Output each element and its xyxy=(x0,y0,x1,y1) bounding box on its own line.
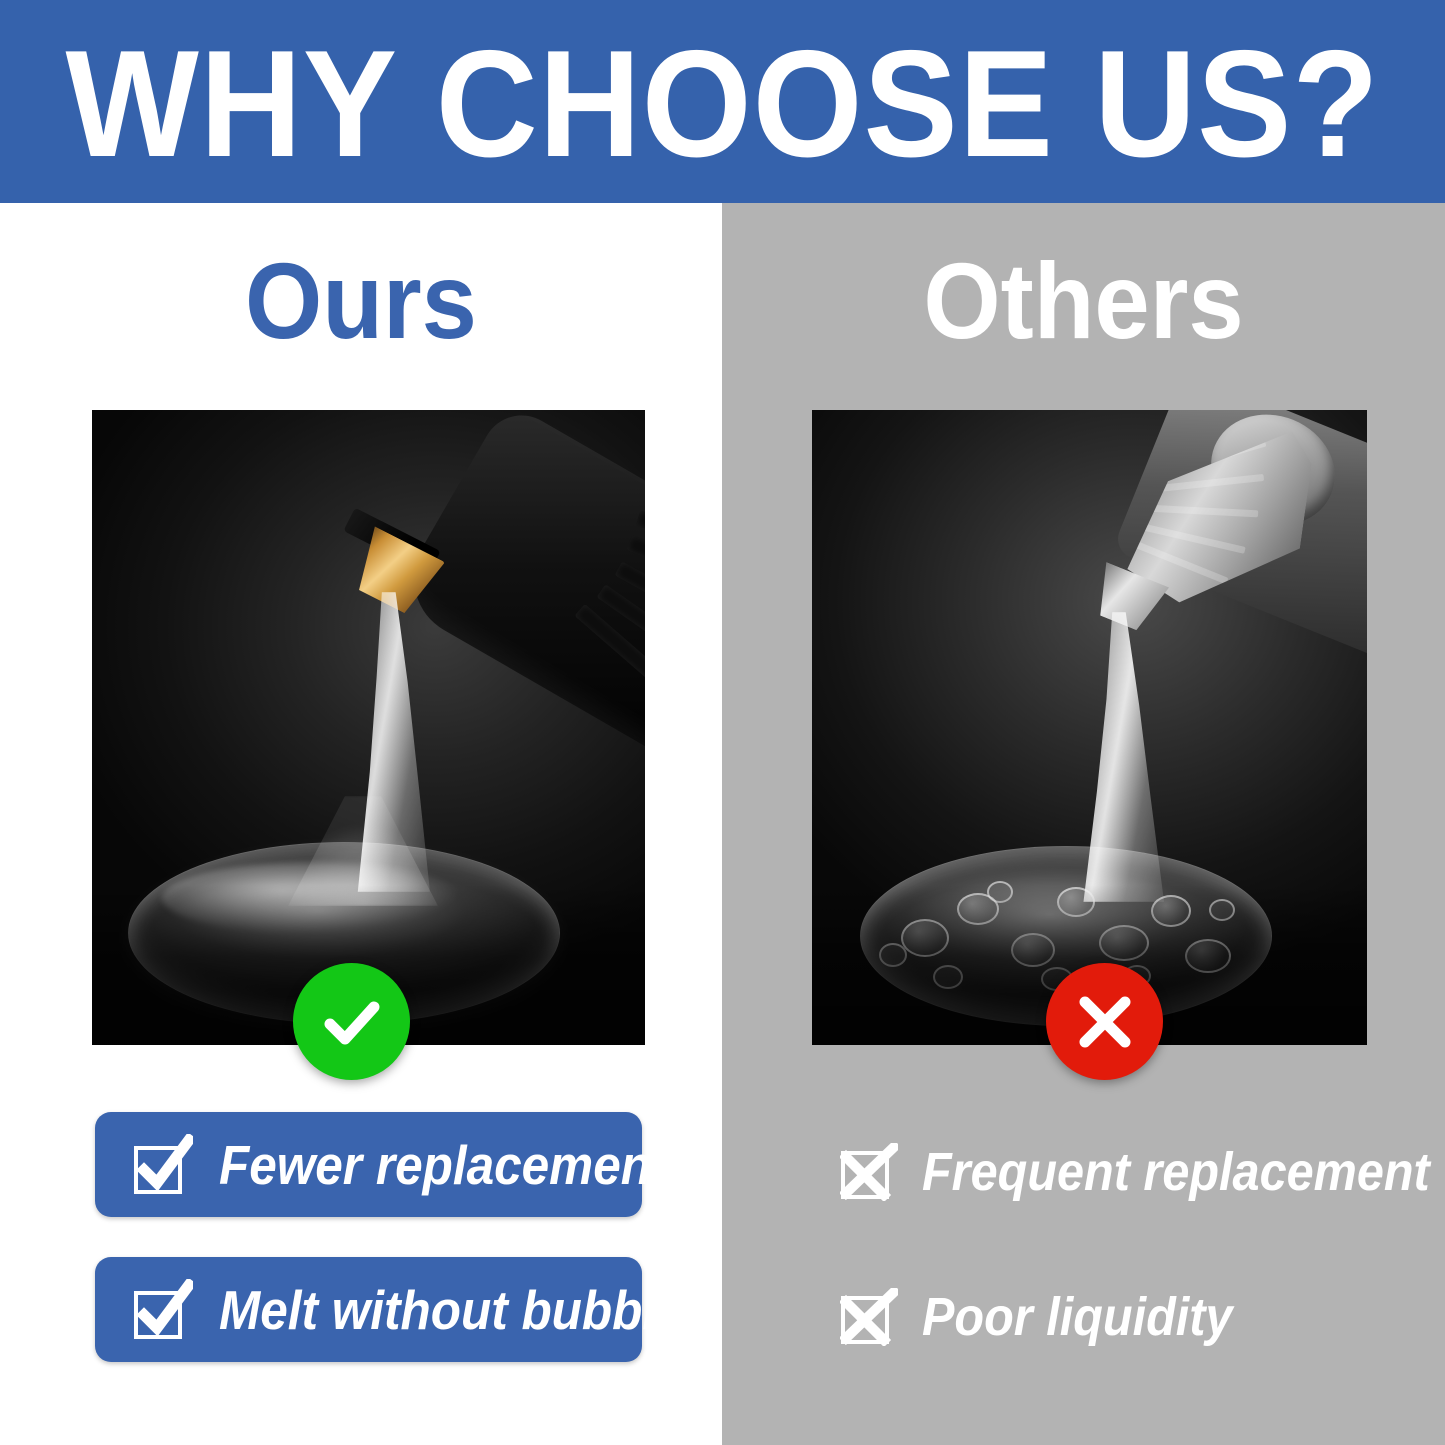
panel-others: Others xyxy=(722,203,1445,1445)
checkbox-crossed-icon xyxy=(840,1143,898,1201)
feature-row-others-2[interactable]: Poor liquidity xyxy=(838,1267,1398,1367)
feature-label-others-1: Frequent replacement xyxy=(922,1143,1430,1201)
product-photo-others xyxy=(812,410,1367,1045)
feature-pill-ours-1[interactable]: Fewer replacements xyxy=(95,1112,642,1217)
feature-label-ours-2: Melt without bubbles xyxy=(219,1281,711,1339)
heading-ours: Ours xyxy=(29,245,693,357)
feature-pill-ours-2[interactable]: Melt without bubbles xyxy=(95,1257,642,1362)
checkbox-crossed-icon xyxy=(840,1288,898,1346)
feature-label-ours-1: Fewer replacements xyxy=(219,1136,695,1194)
product-photo-ours xyxy=(92,410,645,1045)
header-banner: WHY CHOOSE US? xyxy=(0,0,1445,203)
check-circle-icon xyxy=(293,963,410,1080)
checkbox-checked-icon xyxy=(131,1279,193,1341)
feature-row-others-1[interactable]: Frequent replacement xyxy=(838,1122,1398,1222)
checkbox-checked-icon xyxy=(131,1134,193,1196)
feature-label-others-2: Poor liquidity xyxy=(922,1288,1233,1346)
x-circle-icon xyxy=(1046,963,1163,1080)
page-title: WHY CHOOSE US? xyxy=(65,28,1379,180)
heading-others: Others xyxy=(751,245,1416,357)
why-choose-us-poster: WHY CHOOSE US? Ours xyxy=(0,0,1445,1445)
